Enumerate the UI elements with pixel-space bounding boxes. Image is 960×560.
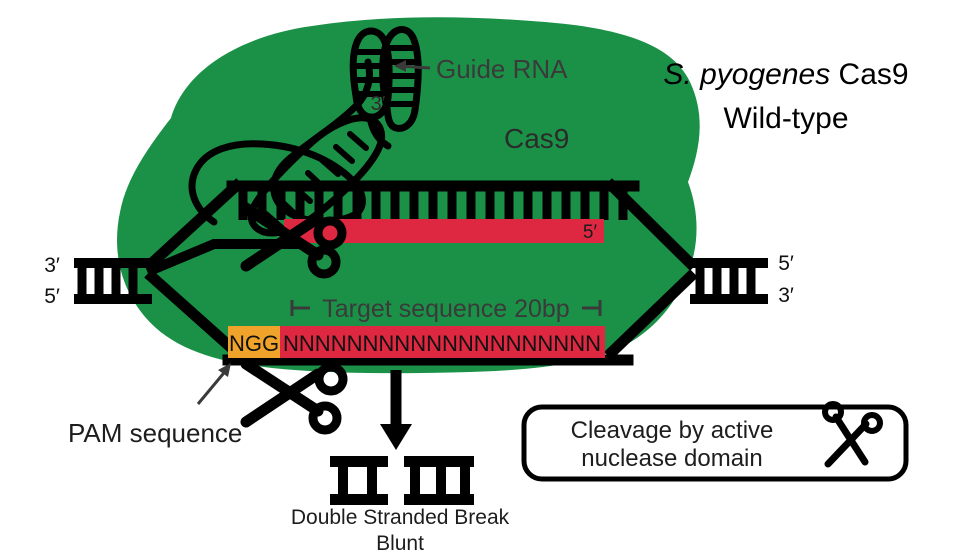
protospacer-sequence-text: NNNNNNNNNNNNNNNNNNNN [283, 331, 601, 356]
pam-sequence-label: PAM sequence [68, 418, 242, 448]
legend-line2: nuclease domain [581, 445, 762, 472]
dsb-label-line2: Blunt [376, 532, 424, 555]
dna-right-top-end-label: 5′ [778, 252, 794, 275]
figure-title-line2: Wild-type [723, 102, 848, 135]
pam-annotation-arrow [198, 363, 231, 404]
dsb-label-line1: Double Stranded Break [291, 506, 510, 529]
figure-title-species: S. pyogenes [663, 58, 830, 91]
crispr-cas9-diagram: 3′ Guide RNA Cas9 S. pyogenes Cas9 Wild-… [0, 0, 960, 560]
top-strand-end-label: 5′ [583, 222, 598, 243]
upper-strand-bases [243, 188, 623, 220]
pam-sequence-text: NGG [229, 331, 279, 356]
dna-right-duplex [690, 258, 768, 304]
legend-line1: Cleavage by active [571, 417, 774, 444]
dna-right-bottom-end-label: 3′ [778, 284, 794, 307]
cleavage-arrow-icon [380, 370, 412, 450]
target-sequence-label: Target sequence 20bp [322, 295, 569, 323]
legend-box: Cleavage by active nuclease domain [524, 404, 906, 479]
figure-title-protein: Cas9 [830, 58, 908, 91]
scissors-icon-lower [246, 364, 343, 430]
dsb-product-left [330, 456, 388, 505]
dsb-product-right [404, 456, 474, 505]
guide-rna-label: Guide RNA [436, 54, 568, 84]
guide-rna-end-label: 3′ [371, 93, 386, 115]
figure-title-line1: S. pyogenes Cas9 [663, 58, 908, 91]
dna-left-top-end-label: 3′ [44, 254, 60, 277]
dna-left-bottom-end-label: 5′ [44, 285, 60, 308]
cas9-protein-label: Cas9 [504, 123, 569, 154]
